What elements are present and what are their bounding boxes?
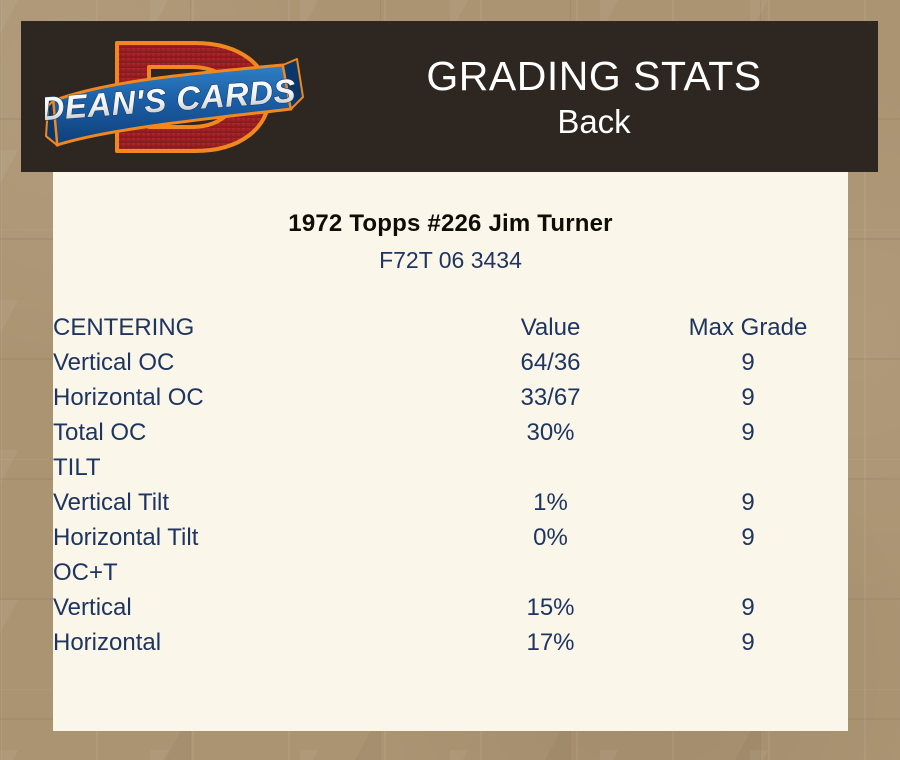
table-row: Total OC30%9 [53, 415, 848, 450]
grading-stats-table: CENTERING Value Max Grade Vertical OC64/… [53, 310, 848, 660]
stat-label: Vertical [53, 590, 453, 625]
table-row: Horizontal OC33/679 [53, 380, 848, 415]
column-header-value: Value [453, 310, 648, 345]
stat-max-grade: 9 [648, 625, 848, 660]
stat-value: 30% [453, 415, 648, 450]
stat-value: 0% [453, 520, 648, 555]
stat-label: Vertical Tilt [53, 485, 453, 520]
table-row: Vertical Tilt1%9 [53, 485, 848, 520]
stat-label: Horizontal Tilt [53, 520, 453, 555]
section-value-spacer [453, 555, 648, 590]
section-title: TILT [53, 450, 453, 485]
table-row: Horizontal17%9 [53, 625, 848, 660]
stat-value: 64/36 [453, 345, 648, 380]
stat-max-grade: 9 [648, 485, 848, 520]
header-titles: GRADING STATS Back [310, 21, 878, 172]
stat-max-grade: 9 [648, 520, 848, 555]
table-row: Vertical OC64/369 [53, 345, 848, 380]
table-header-row: CENTERING Value Max Grade [53, 310, 848, 345]
header-bar: DEAN'S CARDS GRADING STATS Back [21, 21, 878, 172]
stat-max-grade: 9 [648, 380, 848, 415]
stat-max-grade: 9 [648, 590, 848, 625]
column-header-max-grade: Max Grade [648, 310, 848, 345]
page-title: GRADING STATS [426, 52, 761, 100]
stat-value: 17% [453, 625, 648, 660]
column-header-category: CENTERING [53, 310, 453, 345]
stat-value: 1% [453, 485, 648, 520]
deans-cards-logo: DEAN'S CARDS [45, 23, 310, 171]
section-value-spacer [453, 450, 648, 485]
table-row: Vertical15%9 [53, 590, 848, 625]
section-row: TILT [53, 450, 848, 485]
section-title: OC+T [53, 555, 453, 590]
section-row: OC+T [53, 555, 848, 590]
stat-label: Horizontal [53, 625, 453, 660]
table-body: Vertical OC64/369Horizontal OC33/679Tota… [53, 345, 848, 660]
content-panel: 1972 Topps #226 Jim Turner F72T 06 3434 … [53, 172, 848, 731]
card-title: 1972 Topps #226 Jim Turner [53, 172, 848, 238]
stat-label: Vertical OC [53, 345, 453, 380]
section-grade-spacer [648, 450, 848, 485]
page-subtitle: Back [557, 102, 630, 142]
stat-value: 33/67 [453, 380, 648, 415]
card-serial-number: F72T 06 3434 [53, 238, 848, 274]
stat-max-grade: 9 [648, 345, 848, 380]
stat-value: 15% [453, 590, 648, 625]
table-row: Horizontal Tilt0%9 [53, 520, 848, 555]
stat-max-grade: 9 [648, 415, 848, 450]
stat-label: Horizontal OC [53, 380, 453, 415]
stat-label: Total OC [53, 415, 453, 450]
section-grade-spacer [648, 555, 848, 590]
